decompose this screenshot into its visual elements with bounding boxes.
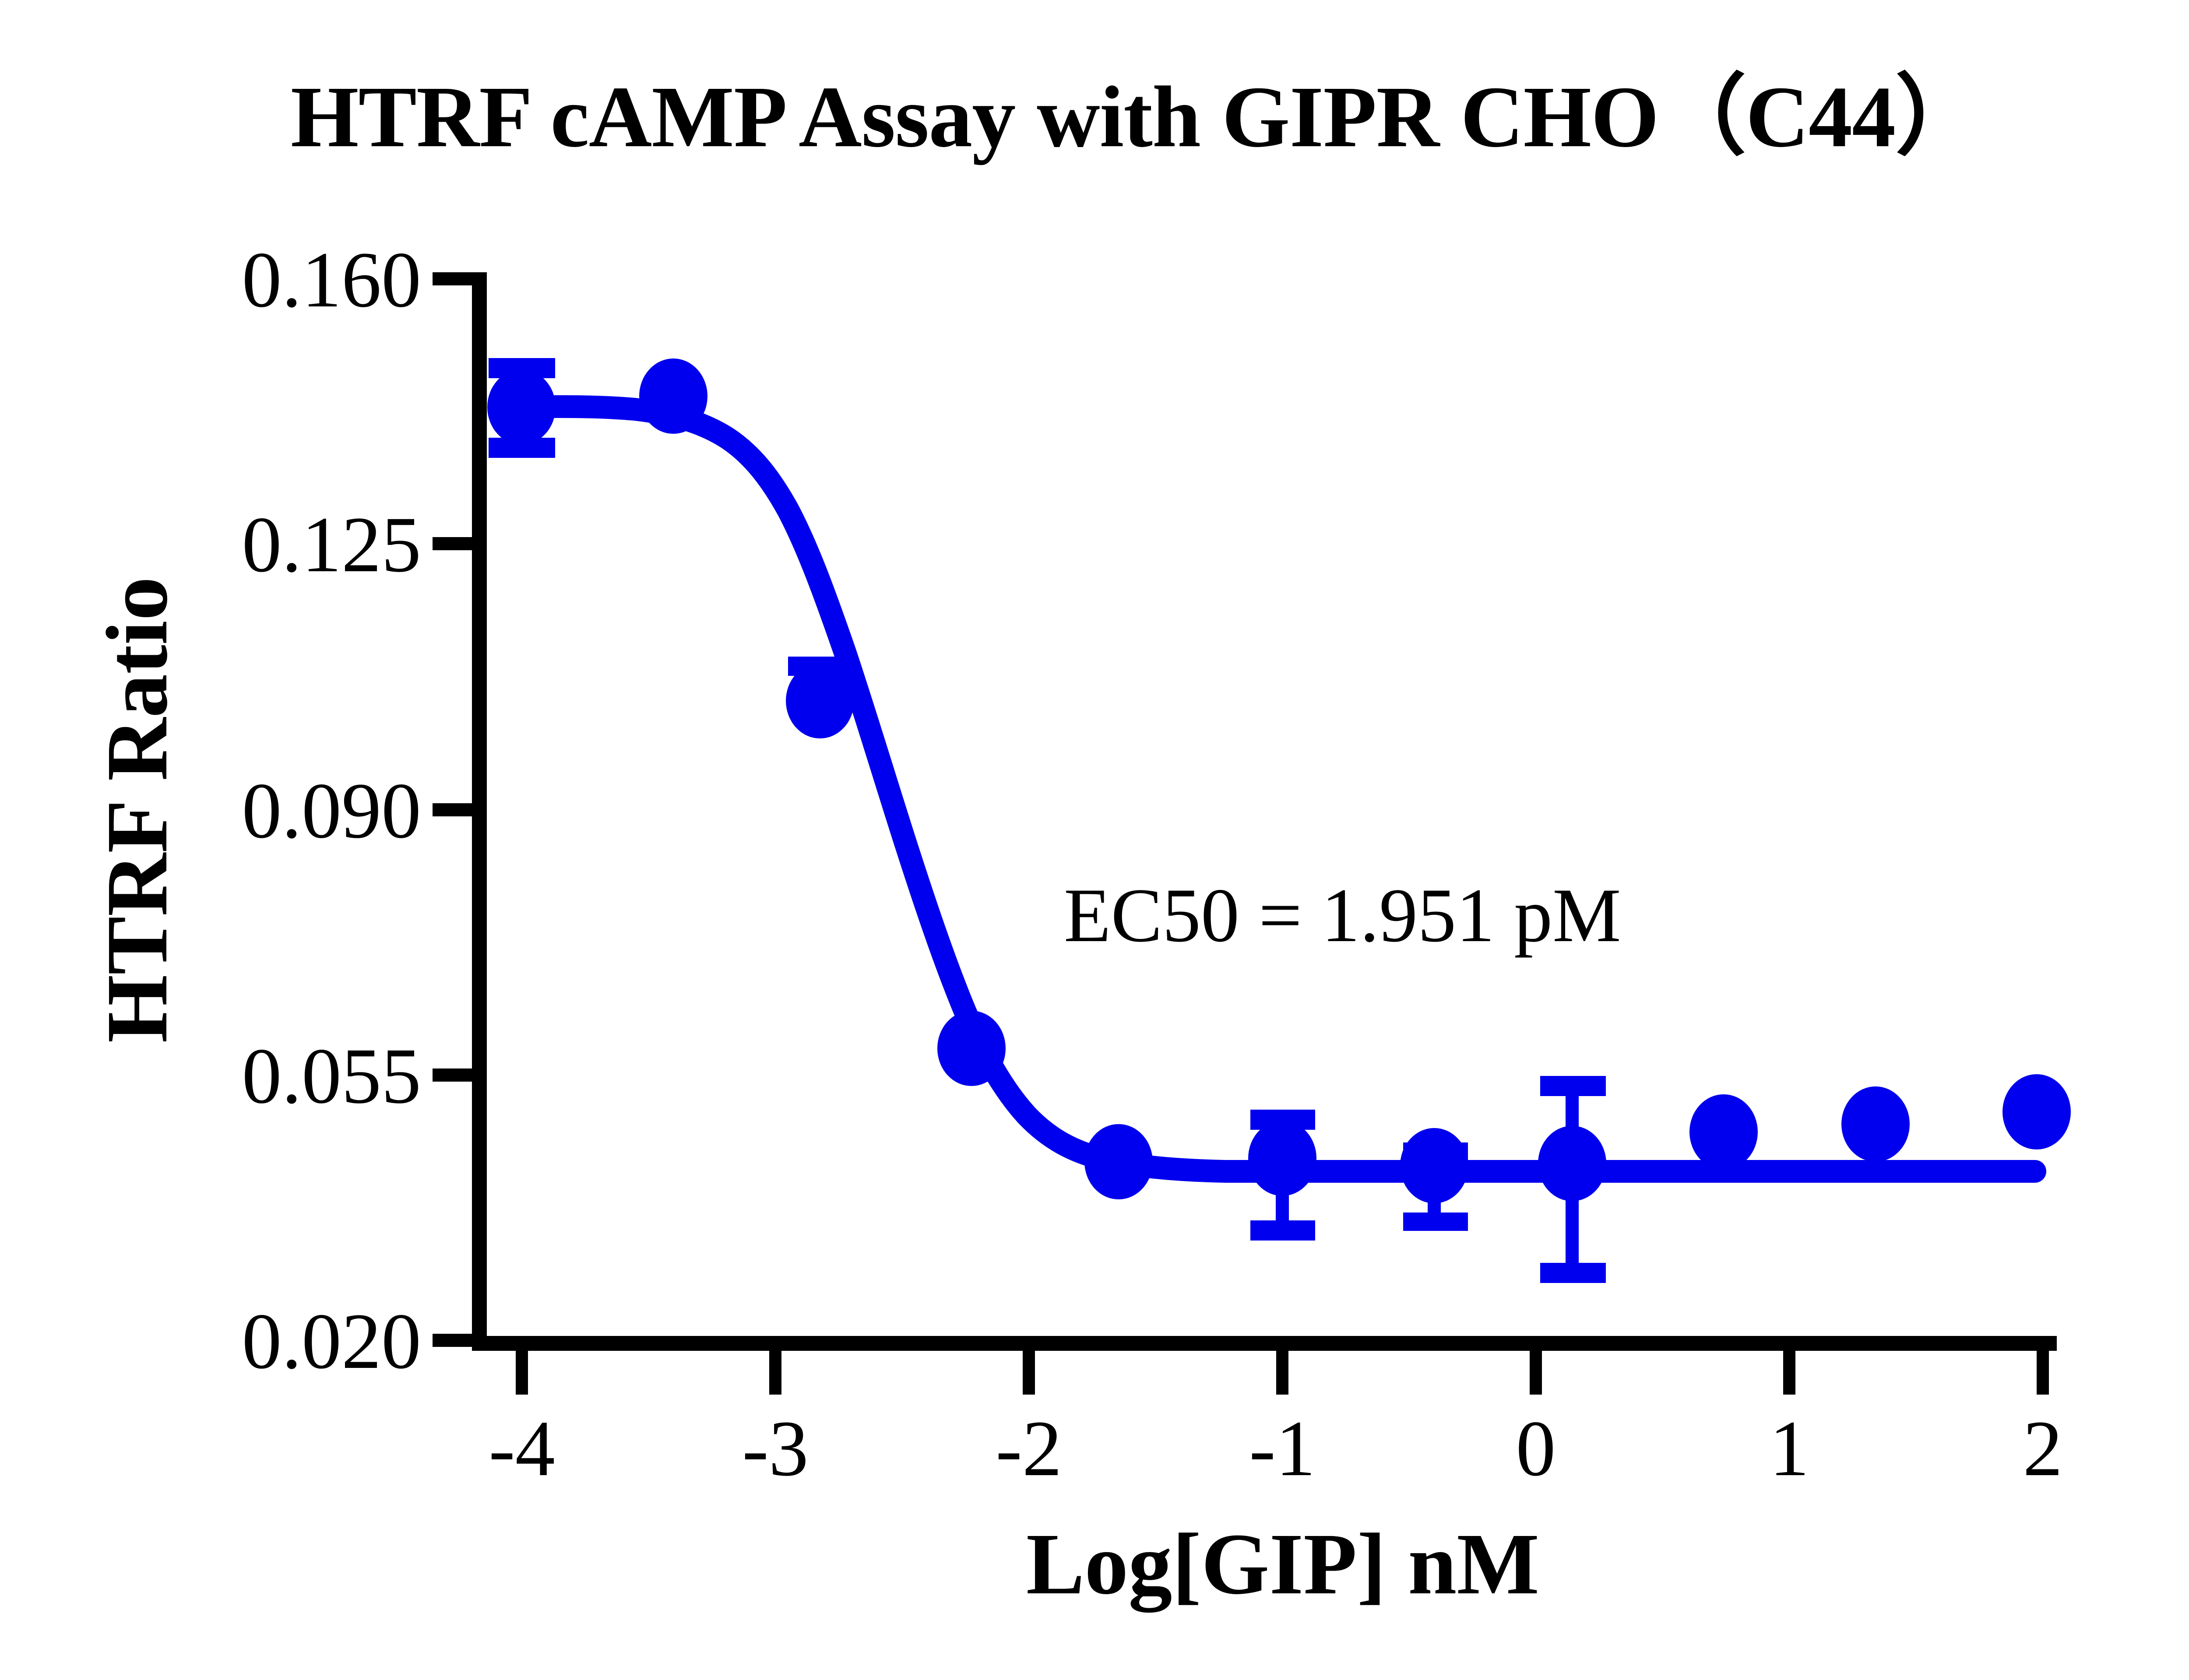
x-tick-m2 bbox=[1023, 1351, 1035, 1395]
data-point bbox=[937, 1011, 1006, 1086]
data-point bbox=[1689, 1094, 1758, 1170]
y-tick-0125 bbox=[433, 537, 473, 550]
x-axis-spine bbox=[472, 1336, 2057, 1351]
data-point bbox=[1248, 1121, 1316, 1196]
x-axis-label-4: 0 bbox=[1516, 1405, 1556, 1493]
y-axis-title: HTRF Ratio bbox=[89, 577, 186, 1043]
y-tick-0090 bbox=[433, 803, 473, 816]
y-axis-label-1: 0.125 bbox=[242, 501, 422, 589]
error-bar-cap-lower bbox=[1250, 1220, 1315, 1241]
data-point bbox=[639, 358, 707, 434]
y-tick-0160 bbox=[433, 272, 473, 285]
x-tick-m1 bbox=[1276, 1351, 1288, 1395]
x-tick-m4 bbox=[516, 1351, 528, 1395]
x-tick-0 bbox=[1530, 1351, 1542, 1395]
data-point bbox=[786, 663, 854, 738]
plot-canvas: 0.160 0.125 0.090 0.055 0.020 -4 -3 -2 -… bbox=[0, 0, 2189, 1680]
data-point bbox=[1841, 1086, 1910, 1162]
x-axis-title: Log[GIP] nM bbox=[1026, 1516, 1539, 1613]
y-axis-label-4: 0.020 bbox=[242, 1297, 422, 1385]
y-axis-label-0: 0.160 bbox=[242, 236, 422, 324]
data-point bbox=[2002, 1074, 2071, 1149]
y-axis-spine bbox=[472, 272, 487, 1347]
x-tick-labels: -4 -3 -2 -1 0 1 2 bbox=[489, 1405, 2062, 1493]
data-point bbox=[1084, 1124, 1153, 1199]
data-point bbox=[1400, 1128, 1468, 1203]
x-axis-label-0: -4 bbox=[489, 1405, 555, 1493]
x-axis-label-6: 2 bbox=[2023, 1405, 2063, 1493]
fit-curve bbox=[521, 407, 2035, 1171]
x-tick-m3 bbox=[769, 1351, 781, 1395]
x-axis-label-1: -3 bbox=[742, 1405, 809, 1493]
ec50-annotation: EC50 = 1.951 pM bbox=[1064, 873, 1621, 958]
y-tick-labels: 0.160 0.125 0.090 0.055 0.020 bbox=[242, 236, 422, 1385]
chart-figure: HTRF cAMP Assay with GIPR CHO（C44） bbox=[0, 0, 2189, 1680]
y-tick-0020 bbox=[433, 1334, 473, 1347]
error-bar-cap-lower bbox=[1540, 1263, 1606, 1283]
x-tick-marks bbox=[516, 1351, 2049, 1395]
x-axis-label-2: -2 bbox=[996, 1405, 1062, 1493]
y-tick-0055 bbox=[433, 1068, 473, 1082]
x-axis-label-5: 1 bbox=[1770, 1405, 1809, 1493]
error-bar-cap-lower bbox=[1403, 1213, 1468, 1231]
y-axis-label-2: 0.090 bbox=[242, 767, 422, 855]
y-tick-marks bbox=[433, 272, 473, 1347]
data-point bbox=[1538, 1126, 1606, 1201]
data-point bbox=[487, 369, 556, 445]
error-bar-cap-upper bbox=[1540, 1076, 1606, 1096]
x-tick-2 bbox=[2037, 1351, 2049, 1395]
data-points bbox=[487, 358, 2071, 1203]
x-axis-label-3: -1 bbox=[1249, 1405, 1316, 1493]
x-tick-1 bbox=[1783, 1351, 1795, 1395]
y-axis-label-3: 0.055 bbox=[242, 1032, 422, 1120]
